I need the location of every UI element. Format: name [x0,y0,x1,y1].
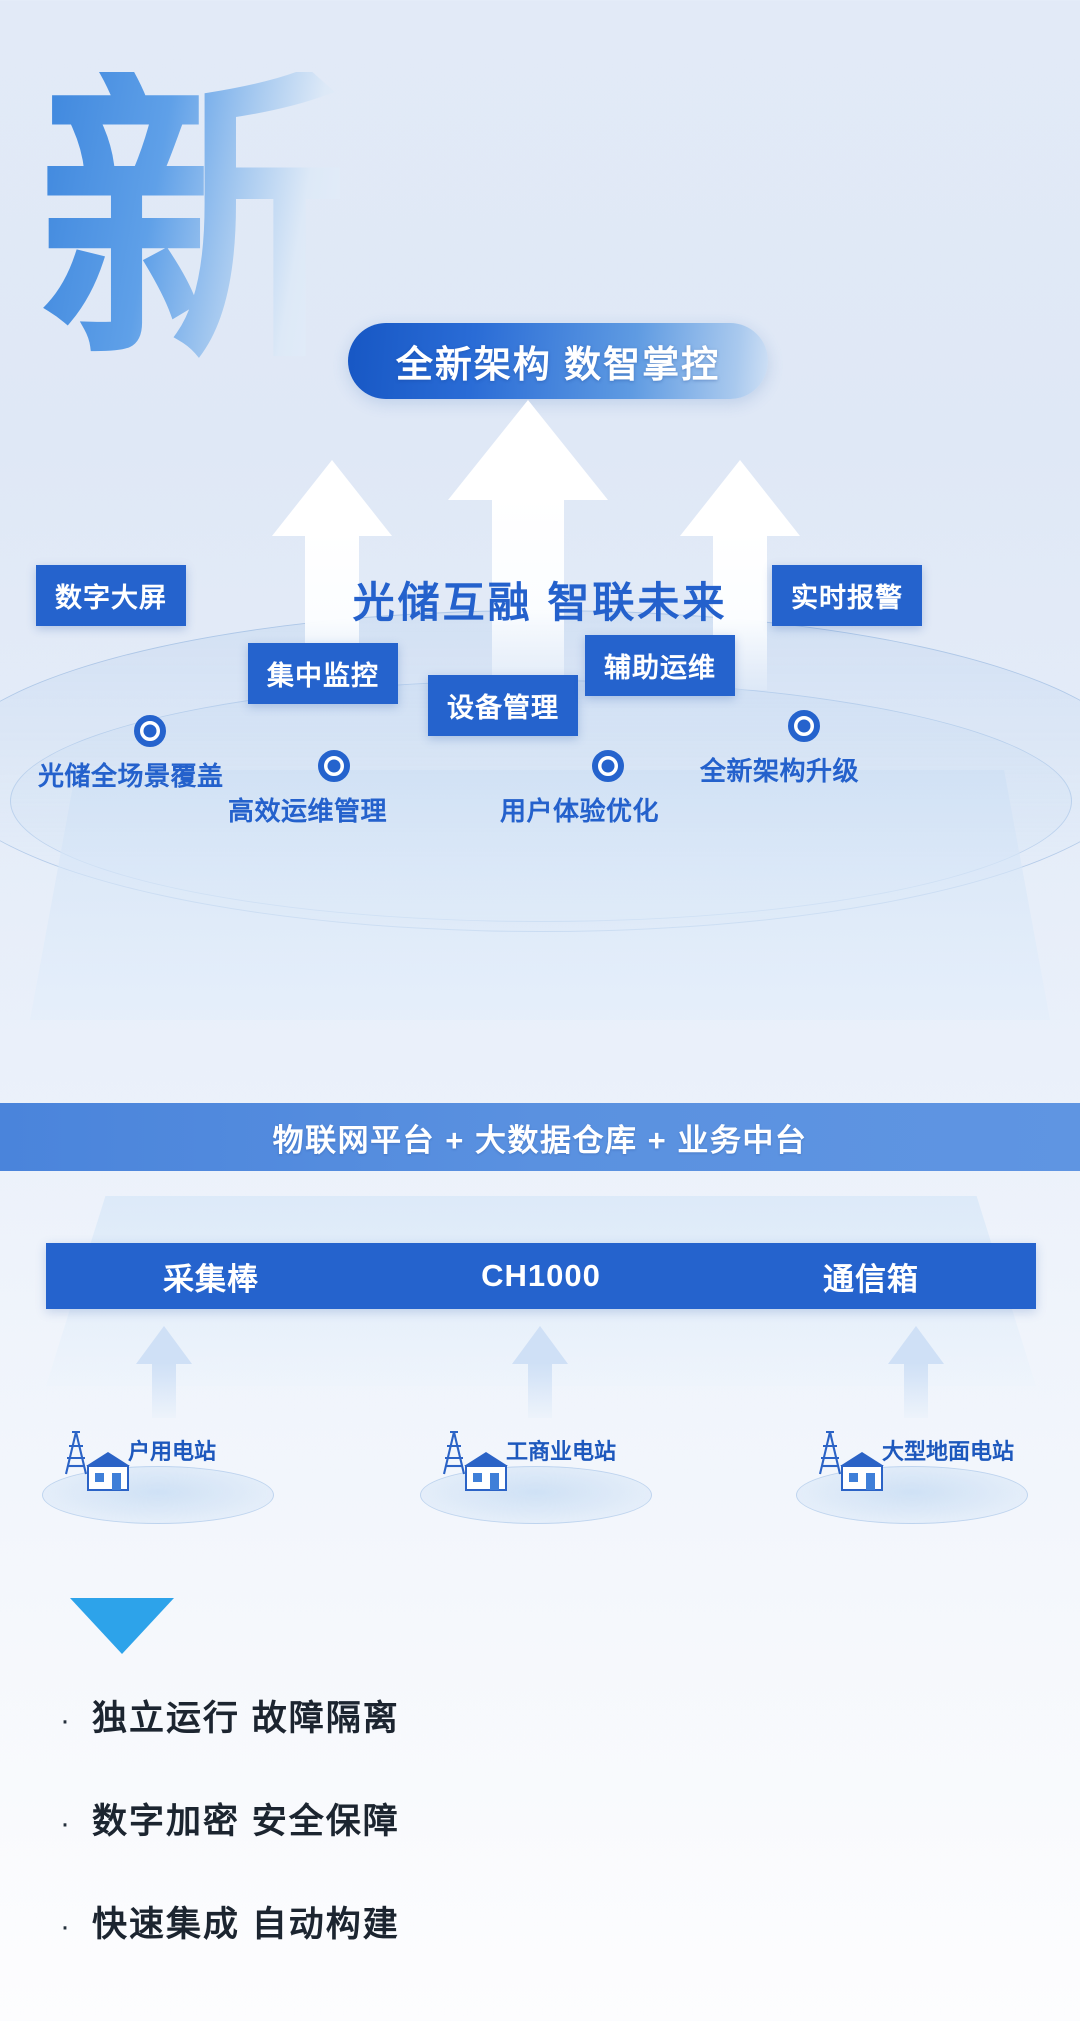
feature-point-1: 光储全场景覆盖 [38,715,224,793]
device-item-ch1000[interactable]: CH1000 [376,1258,706,1294]
feature-label: 全新架构升级 [700,751,859,788]
feature-point-2: 高效运维管理 [228,750,387,828]
feature-label: 光储全场景覆盖 [38,756,224,793]
hero-big-character: 新 [38,72,348,372]
feature-label: 高效运维管理 [228,791,387,828]
feature-point-3: 用户体验优化 [500,750,659,828]
station-label: 工商业电站 [506,1434,616,1466]
bullet-text: 快速集成 自动构建 [92,1896,400,1947]
bullet-marker: · [60,1910,92,1944]
bullet-text: 独立运行 故障隔离 [92,1690,400,1741]
power-station-icon [54,1426,138,1500]
station-utility-scale: 大型地面电站 [786,1426,1080,1536]
device-item-collector[interactable]: 采集棒 [46,1254,376,1299]
hero-banner-label: 全新架构 数智掌控 [396,334,720,388]
badge-device-management[interactable]: 设备管理 [428,675,578,736]
hero-banner: 全新架构 数智掌控 [348,323,768,399]
bullet-list: · 独立运行 故障隔离 · 数字加密 安全保障 · 快速集成 自动构建 [60,1690,960,1999]
badge-central-monitor[interactable]: 集中监控 [248,643,398,704]
power-station-icon [808,1426,892,1500]
station-commercial: 工商业电站 [410,1426,710,1536]
station-label: 大型地面电站 [882,1434,1014,1466]
growth-arrow-center-icon [448,400,608,700]
bullet-text: 数字加密 安全保障 [92,1793,400,1844]
power-station-icon [432,1426,516,1500]
iot-platform-band: 物联网平台 + 大数据仓库 + 业务中台 [0,1103,1080,1171]
flow-arrow-icon-3 [888,1326,944,1418]
bullet-marker: · [60,1704,92,1738]
feature-label: 用户体验优化 [500,791,659,828]
feature-dot-icon [788,710,820,742]
device-bar: 采集棒 CH1000 通信箱 [46,1243,1036,1309]
badge-realtime-alarm[interactable]: 实时报警 [772,565,922,626]
feature-dot-icon [134,715,166,747]
device-item-comm-box[interactable]: 通信箱 [706,1254,1036,1299]
down-caret-icon [70,1598,174,1654]
devices-section: 采集棒 CH1000 通信箱 户用电站 [0,1171,1080,1521]
list-item: · 快速集成 自动构建 [60,1896,960,1947]
list-item: · 独立运行 故障隔离 [60,1690,960,1741]
feature-dot-icon [318,750,350,782]
iot-platform-label: 物联网平台 + 大数据仓库 + 业务中台 [273,1115,808,1160]
feature-dot-icon [592,750,624,782]
flow-arrow-icon-2 [512,1326,568,1418]
feature-point-4: 全新架构升级 [700,710,859,788]
badge-assisted-ops[interactable]: 辅助运维 [585,635,735,696]
station-label: 户用电站 [128,1434,216,1466]
station-residential: 户用电站 [32,1426,332,1536]
platform-section: 光储互融 智联未来 数字大屏 实时报警 集中监控 设备管理 辅助运维 光储全场景… [0,470,1080,1110]
list-item: · 数字加密 安全保障 [60,1793,960,1844]
bullet-marker: · [60,1807,92,1841]
badge-digital-screen[interactable]: 数字大屏 [36,565,186,626]
flow-arrow-icon-1 [136,1326,192,1418]
